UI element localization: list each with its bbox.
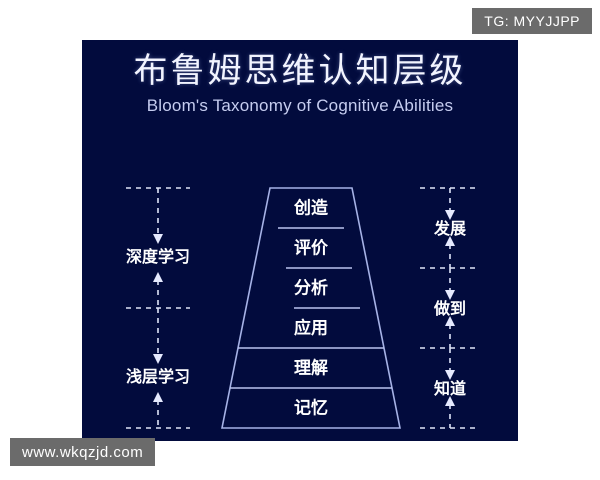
left-bracket-label-0: 深度学习 bbox=[126, 247, 190, 266]
right-arrowhead-down-3 bbox=[445, 370, 455, 380]
pyramid-level-label-5: 记忆 bbox=[294, 397, 328, 417]
right-bracket-group: 发展 做到 知道 bbox=[420, 188, 480, 428]
pyramid-diagram: 创造 评价 分析 应用 理解 记忆 bbox=[82, 40, 518, 441]
left-bracket-group: 深度学习 浅层学习 bbox=[126, 188, 190, 428]
slide-panel: 布鲁姆思维认知层级 Bloom's Taxonomy of Cognitive … bbox=[82, 40, 518, 441]
right-arrowhead-down-2 bbox=[445, 290, 455, 300]
left-arrowhead-down-1 bbox=[153, 234, 163, 244]
pyramid-level-label-2: 分析 bbox=[294, 277, 328, 297]
left-arrowhead-down-2 bbox=[153, 354, 163, 364]
left-arrowhead-up-1 bbox=[153, 272, 163, 282]
diagram-screenshot: 布鲁姆思维认知层级 Bloom's Taxonomy of Cognitive … bbox=[0, 0, 600, 480]
right-bracket-label-0: 发展 bbox=[433, 219, 467, 238]
pyramid-level-label-4: 理解 bbox=[294, 357, 328, 377]
site-watermark-badge: www.wkqzjd.com bbox=[10, 438, 155, 466]
right-arrowhead-down-1 bbox=[445, 210, 455, 220]
pyramid-level-label-3: 应用 bbox=[294, 317, 328, 337]
left-bracket-label-1: 浅层学习 bbox=[126, 367, 190, 386]
left-arrowhead-up-2 bbox=[153, 392, 163, 402]
tg-watermark-badge: TG: MYYJJPP bbox=[472, 8, 592, 34]
pyramid-level-label-1: 评价 bbox=[294, 238, 329, 257]
pyramid-level-label-0: 创造 bbox=[293, 197, 329, 217]
right-bracket-label-2: 知道 bbox=[434, 379, 466, 398]
right-bracket-label-1: 做到 bbox=[433, 299, 466, 318]
